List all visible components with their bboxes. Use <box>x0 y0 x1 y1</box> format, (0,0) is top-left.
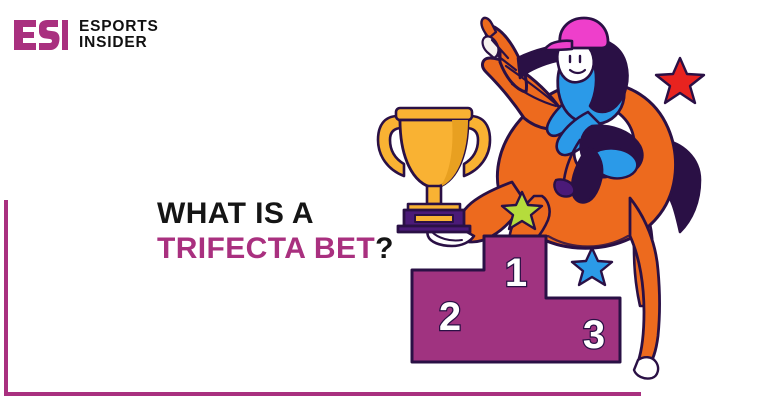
podium-number-2: 2 <box>439 295 461 339</box>
promo-banner: ESPORTS INSIDER <box>0 0 768 410</box>
headline-block: WHAT IS A TRIFECTA BET? <box>157 196 394 267</box>
logo-text-line2: INSIDER <box>79 35 159 51</box>
rider-illustration <box>512 18 642 202</box>
blue-star-icon <box>572 248 612 285</box>
winners-podium <box>412 236 620 362</box>
headline-line-2: TRIFECTA BET? <box>157 231 394 266</box>
green-star-icon <box>502 192 542 229</box>
frame-vertical-accent <box>4 200 8 396</box>
esi-monogram-icon <box>12 18 70 52</box>
headline-line-1: WHAT IS A <box>157 196 394 231</box>
esports-insider-logo[interactable]: ESPORTS INSIDER <box>12 18 159 52</box>
headline-highlight: TRIFECTA BET <box>157 232 375 265</box>
podium-number-3: 3 <box>583 313 605 357</box>
red-star-icon <box>656 58 704 103</box>
trophy-icon <box>378 108 490 232</box>
headline-question-mark: ? <box>375 232 394 265</box>
horse-illustration <box>427 18 700 379</box>
logo-text-line1: ESPORTS <box>79 19 159 35</box>
frame-horizontal-accent <box>4 392 641 396</box>
decorative-stars <box>502 58 704 285</box>
podium-numbers: 1 2 3 <box>439 251 605 357</box>
podium-number-1: 1 <box>505 251 527 295</box>
